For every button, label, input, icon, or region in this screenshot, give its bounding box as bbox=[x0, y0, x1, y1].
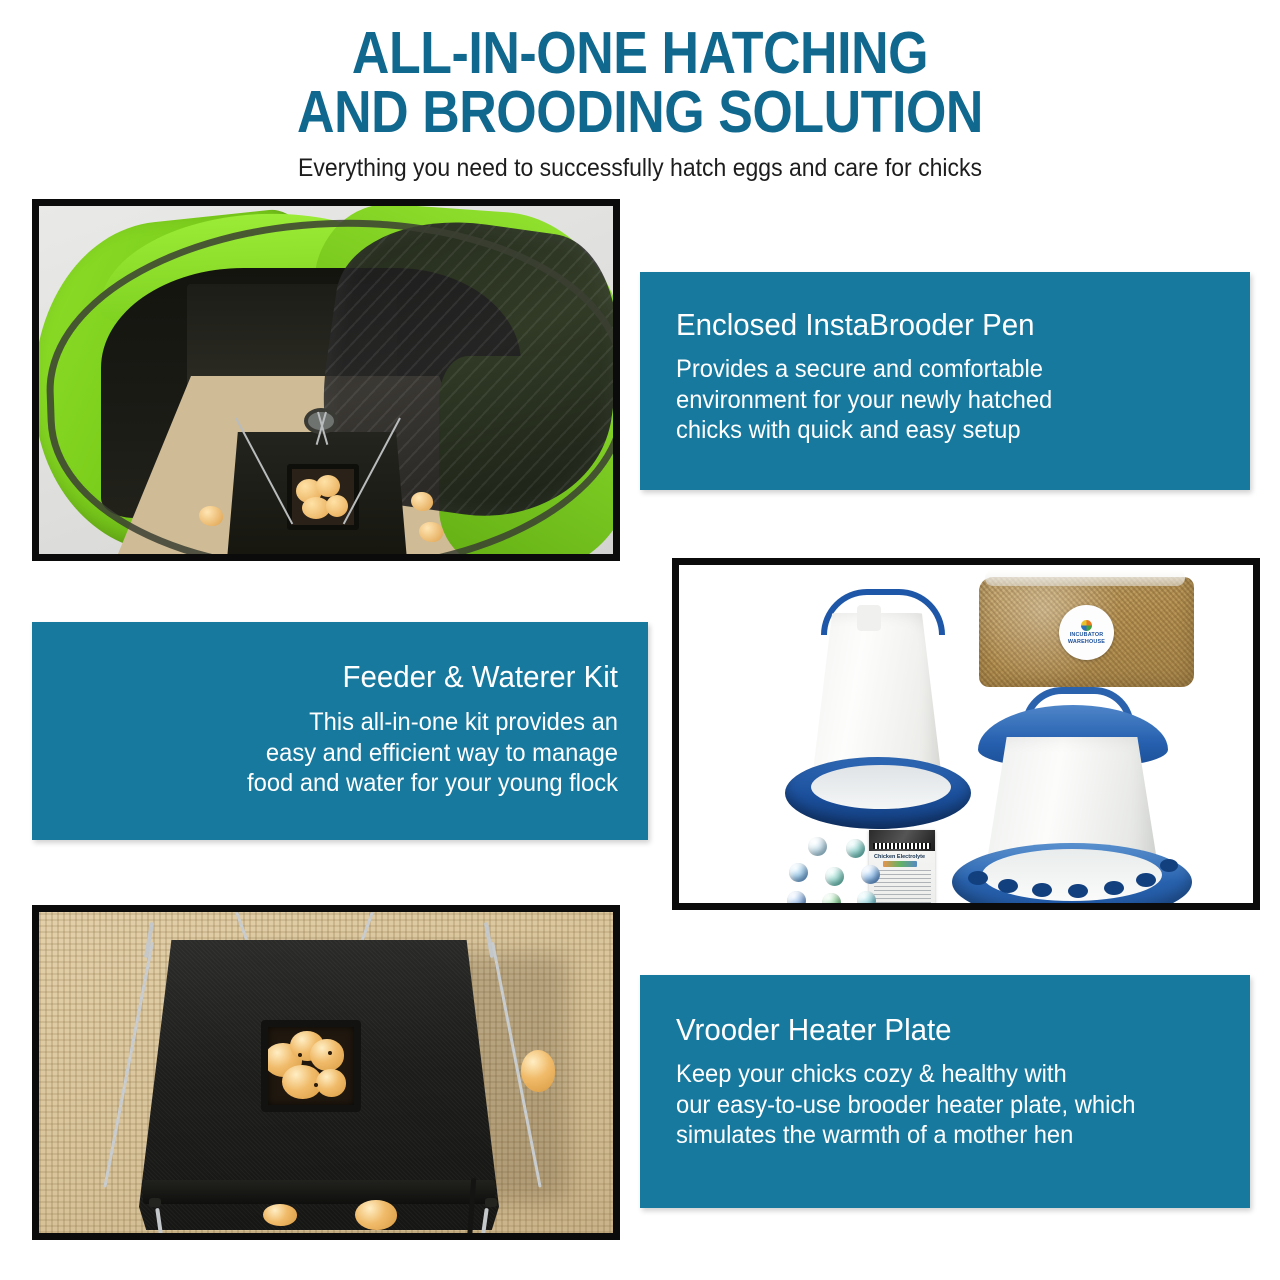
plate-front-edge bbox=[143, 1180, 495, 1204]
chick bbox=[521, 1050, 555, 1092]
chicken-feeder bbox=[954, 685, 1189, 900]
feature-body: This all-in-one kit provides an easy and… bbox=[61, 707, 618, 799]
glass-marble bbox=[822, 893, 841, 903]
page-subtitle: Everything you need to successfully hatc… bbox=[51, 153, 1229, 183]
glass-marble bbox=[857, 891, 876, 903]
waterer-cap bbox=[857, 605, 881, 631]
chick bbox=[411, 492, 433, 511]
packet-barcode-icon bbox=[873, 843, 931, 849]
feeder-port bbox=[998, 879, 1018, 893]
chick-feed-bag: INCUBATOR WAREHOUSE bbox=[979, 577, 1194, 687]
chick bbox=[355, 1200, 397, 1230]
feeder-port bbox=[1104, 881, 1124, 895]
chick bbox=[199, 506, 223, 526]
glass-marble bbox=[789, 863, 808, 882]
glass-marble bbox=[808, 837, 827, 856]
page-title-line-1: ALL-IN-ONE HATCHING bbox=[77, 24, 1203, 83]
feature-body-line: simulates the warmth of a mother hen bbox=[676, 1120, 1221, 1151]
page-title: ALL-IN-ONE HATCHING AND BROODING SOLUTIO… bbox=[77, 0, 1203, 142]
packet-title: Chicken Electrolyte bbox=[874, 854, 925, 860]
chicken-electrolyte-packet: Chicken Electrolyte bbox=[869, 830, 935, 903]
feeder-port bbox=[1160, 859, 1178, 872]
glass-marble bbox=[846, 839, 865, 858]
glass-marble bbox=[825, 867, 844, 886]
feature-body-line: This all-in-one kit provides an bbox=[61, 707, 618, 738]
feeder-port bbox=[1032, 883, 1052, 897]
heater-plate-scene bbox=[39, 912, 613, 1233]
feature-body-line: Keep your chicks cozy & healthy with bbox=[676, 1059, 1221, 1090]
feature-body-line: easy and efficient way to manage bbox=[61, 738, 618, 769]
photo-vrooder-heater-plate bbox=[32, 905, 620, 1240]
feature-body-line: our easy-to-use brooder heater plate, wh… bbox=[676, 1090, 1221, 1121]
feature-card-feeder-waterer-kit: Feeder & Waterer Kit This all-in-one kit… bbox=[32, 622, 648, 840]
chick bbox=[316, 1069, 346, 1097]
feature-heading: Enclosed InstaBrooder Pen bbox=[676, 308, 1221, 342]
feature-body-line: Provides a secure and comfortable bbox=[676, 354, 1221, 385]
brooder-pen-scene bbox=[39, 206, 613, 554]
packet-brand-logo-icon bbox=[883, 861, 917, 867]
chick bbox=[310, 1039, 344, 1071]
plate-foot bbox=[149, 1198, 161, 1207]
feature-body: Keep your chicks cozy & healthy with our… bbox=[676, 1059, 1221, 1151]
chicken-waterer bbox=[789, 589, 964, 819]
chick bbox=[326, 495, 348, 517]
glass-marble bbox=[861, 865, 880, 884]
feature-body: Provides a secure and comfortable enviro… bbox=[676, 354, 1221, 446]
glass-marble bbox=[787, 891, 806, 903]
heater-plate-window bbox=[287, 464, 359, 530]
brand-label-line-2: WAREHOUSE bbox=[1068, 639, 1105, 646]
chick bbox=[419, 522, 443, 542]
page-title-line-2: AND BROODING SOLUTION bbox=[77, 83, 1203, 142]
feed-bag-brand-label: INCUBATOR WAREHOUSE bbox=[1059, 605, 1114, 660]
feature-body-line: chicks with quick and easy setup bbox=[676, 415, 1221, 446]
packet-text-block bbox=[874, 870, 931, 903]
chick-eye bbox=[298, 1053, 302, 1057]
plate-viewing-window bbox=[261, 1020, 361, 1112]
brand-logo-icon bbox=[1081, 620, 1092, 631]
chick-eye bbox=[328, 1051, 332, 1055]
chick bbox=[316, 475, 340, 497]
chick-eye bbox=[314, 1083, 318, 1087]
photo-feeder-waterer-kit: INCUBATOR WAREHOUSE bbox=[672, 558, 1260, 910]
photo-enclosed-instabrooder-pen bbox=[32, 199, 620, 561]
waterer-base-inner bbox=[811, 765, 951, 809]
feeder-port bbox=[968, 871, 988, 885]
feature-body-line: food and water for your young flock bbox=[61, 768, 618, 799]
feeder-port bbox=[1068, 884, 1088, 898]
feature-card-vrooder-heater-plate: Vrooder Heater Plate Keep your chicks co… bbox=[640, 975, 1250, 1208]
feeder-waterer-scene: INCUBATOR WAREHOUSE bbox=[679, 565, 1253, 903]
feature-body-line: environment for your newly hatched bbox=[676, 385, 1221, 416]
chick bbox=[263, 1204, 297, 1226]
feature-heading: Feeder & Waterer Kit bbox=[61, 660, 618, 694]
plate-foot bbox=[485, 1198, 497, 1207]
feature-card-enclosed-instabrooder-pen: Enclosed InstaBrooder Pen Provides a sec… bbox=[640, 272, 1250, 490]
feeder-port bbox=[1136, 873, 1156, 887]
header: ALL-IN-ONE HATCHING AND BROODING SOLUTIO… bbox=[0, 0, 1280, 183]
infographic-root: ALL-IN-ONE HATCHING AND BROODING SOLUTIO… bbox=[0, 0, 1280, 1280]
feature-heading: Vrooder Heater Plate bbox=[676, 1013, 1221, 1047]
